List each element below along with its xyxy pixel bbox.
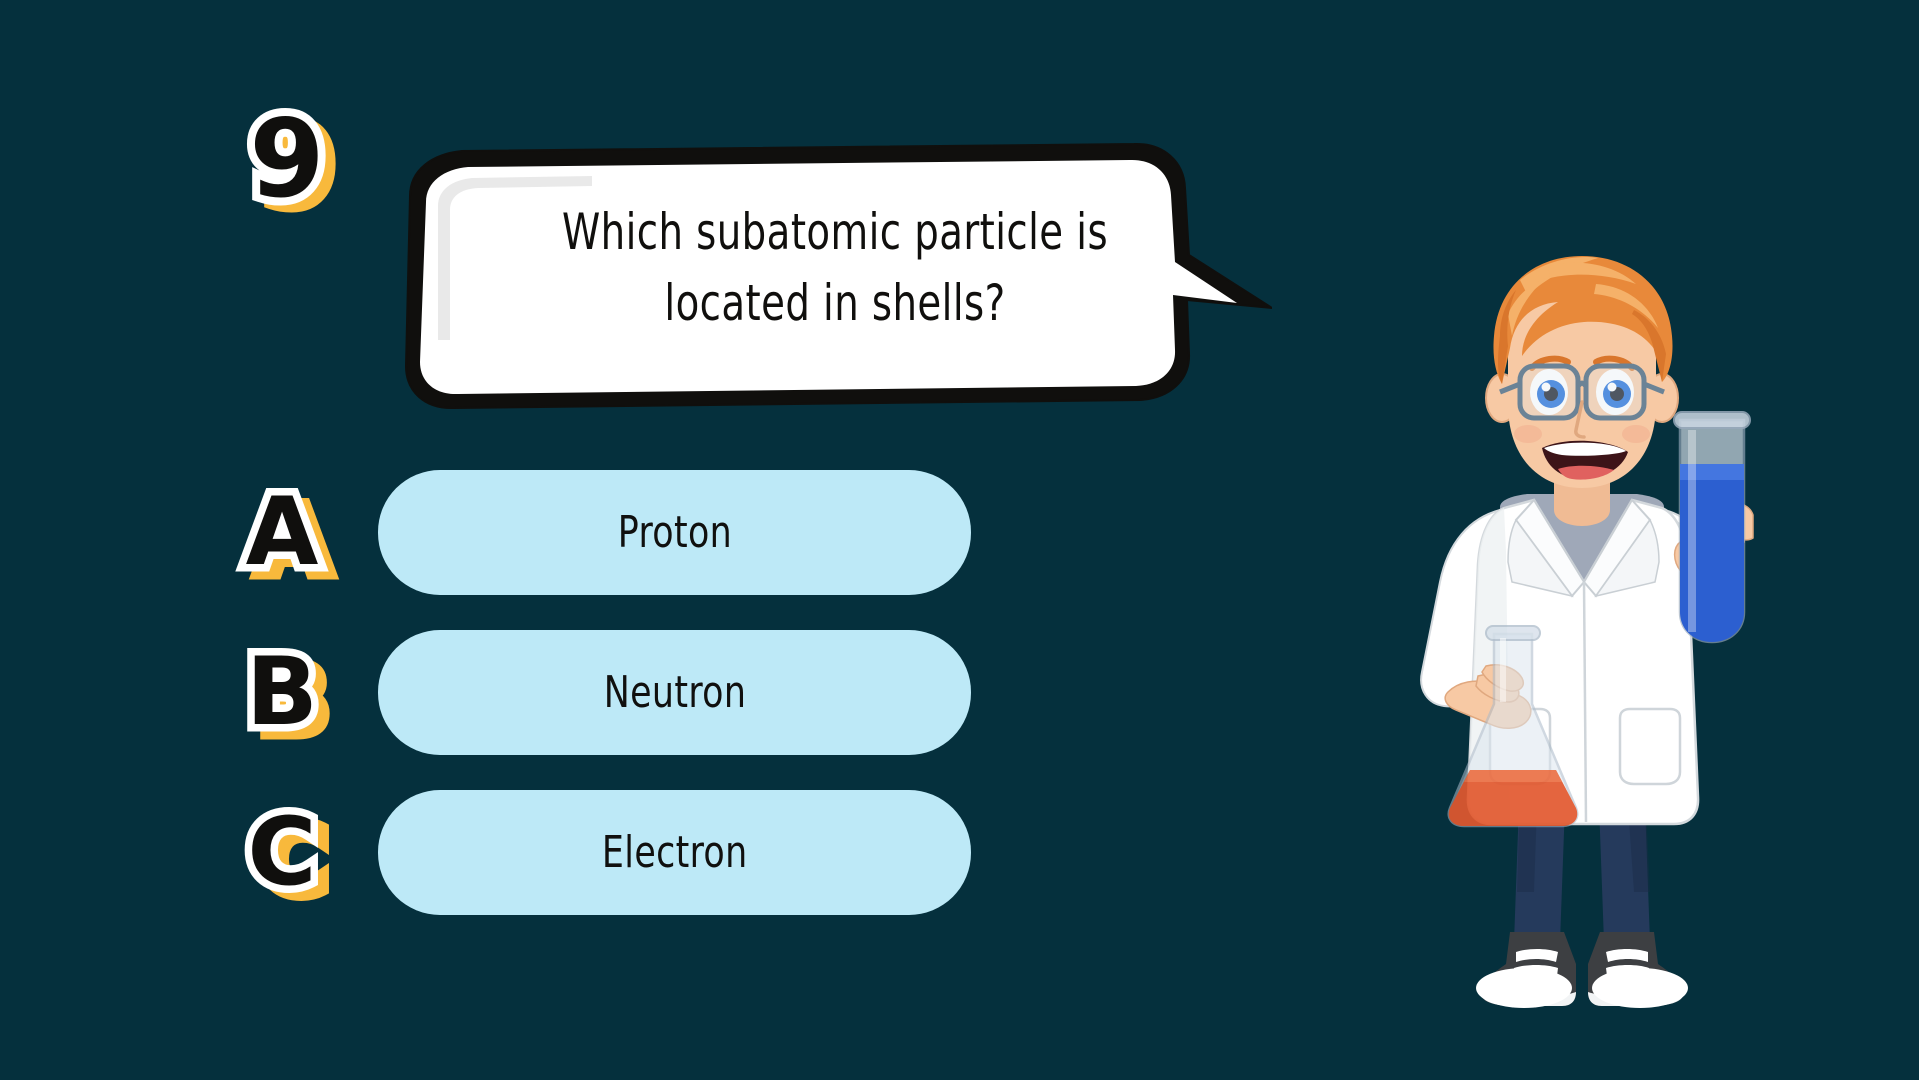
scientist-character-illustration bbox=[1382, 252, 1782, 1022]
quiz-slide: 9 9 9 Which subatomic particle is locate… bbox=[0, 0, 1919, 1080]
answer-label-b: Neutron bbox=[603, 667, 746, 718]
answer-option-b[interactable]: Neutron bbox=[378, 630, 971, 755]
cheek-left bbox=[1514, 425, 1542, 443]
letter-b-glyph: B bbox=[228, 634, 336, 752]
cheek-right bbox=[1622, 425, 1650, 443]
letter-c-glyph: C bbox=[228, 794, 336, 912]
answer-label-c: Electron bbox=[602, 827, 748, 878]
answer-option-a[interactable]: Proton bbox=[378, 470, 971, 595]
question-speech-bubble: Which subatomic particle is located in s… bbox=[392, 140, 1272, 415]
answer-row-b[interactable]: B B B Neutron bbox=[228, 630, 988, 758]
question-number-text: 9 bbox=[232, 97, 342, 222]
answer-letter-badge-b: B B B bbox=[228, 634, 336, 752]
answer-list: A A A Proton B B B Neutron C C C bbox=[228, 470, 988, 918]
letter-a-glyph: A bbox=[228, 474, 336, 592]
question-number-badge: 9 9 9 bbox=[232, 97, 342, 222]
scientist-svg bbox=[1382, 252, 1782, 1022]
test-tube bbox=[1674, 412, 1750, 642]
question-text: Which subatomic particle is located in s… bbox=[504, 178, 1166, 358]
answer-row-a[interactable]: A A A Proton bbox=[228, 470, 988, 598]
answer-option-c[interactable]: Electron bbox=[378, 790, 971, 915]
answer-row-c[interactable]: C C C Electron bbox=[228, 790, 988, 918]
question-line-2: located in shells? bbox=[664, 268, 1005, 339]
question-line-1: Which subatomic particle is bbox=[562, 197, 1108, 268]
answer-letter-badge-a: A A A bbox=[228, 474, 336, 592]
answer-label-a: Proton bbox=[617, 507, 731, 558]
answer-letter-badge-c: C C C bbox=[228, 794, 336, 912]
shoes bbox=[1476, 932, 1688, 1008]
